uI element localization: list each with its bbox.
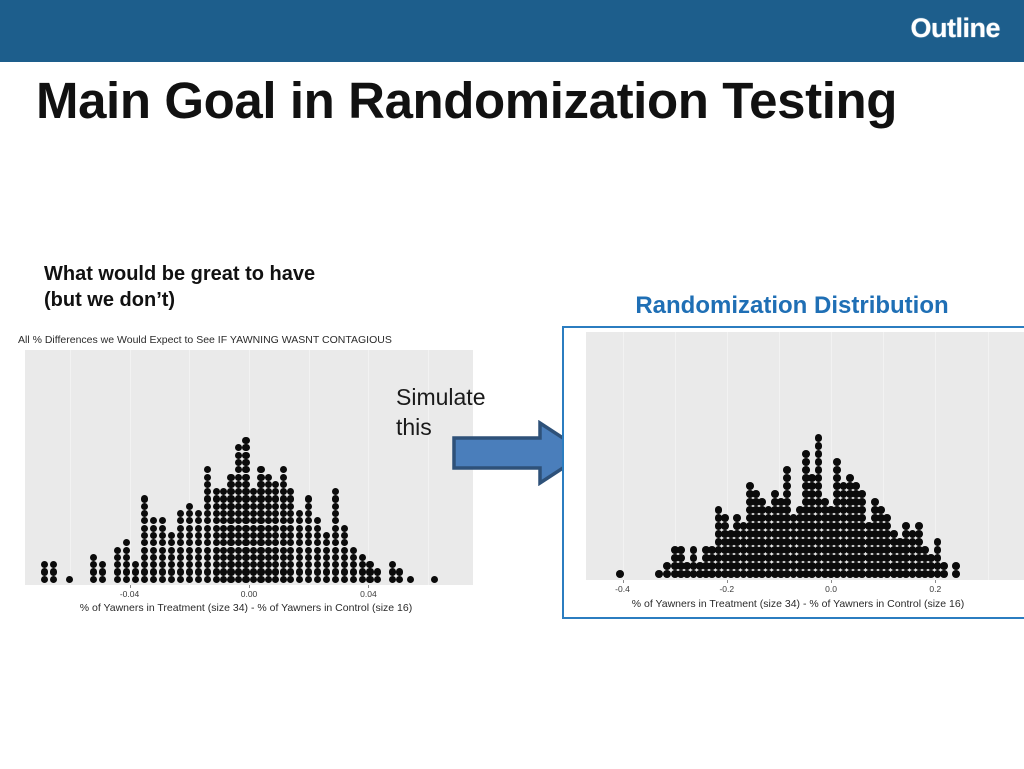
data-dot <box>323 568 330 575</box>
data-dot <box>250 576 257 583</box>
data-dot <box>915 530 923 538</box>
data-dot <box>227 503 234 510</box>
data-dot <box>150 532 157 539</box>
data-dot <box>177 547 184 554</box>
axis-tick-label: 0.04 <box>360 589 377 599</box>
data-dot <box>235 539 242 546</box>
data-dot <box>220 510 227 517</box>
data-dot <box>815 450 823 458</box>
data-dot <box>921 546 929 554</box>
data-dot <box>227 532 234 539</box>
page-title: Main Goal in Randomization Testing <box>36 72 936 130</box>
data-dot <box>350 568 357 575</box>
data-dot <box>177 568 184 575</box>
data-dot <box>690 546 698 554</box>
axis-tick-label: 0.0 <box>825 584 837 594</box>
data-dot <box>257 474 264 481</box>
data-dot <box>235 554 242 561</box>
data-dot <box>265 539 272 546</box>
data-dot <box>195 547 202 554</box>
data-dot <box>227 568 234 575</box>
data-dot <box>227 561 234 568</box>
data-dot <box>280 503 287 510</box>
data-dot <box>314 554 321 561</box>
data-dot <box>305 503 312 510</box>
data-dot <box>332 568 339 575</box>
data-dot <box>213 576 220 583</box>
data-dot <box>314 561 321 568</box>
data-dot <box>272 488 279 495</box>
data-dot <box>332 547 339 554</box>
data-dot <box>783 498 791 506</box>
outline-link[interactable]: Outline <box>911 13 1001 44</box>
data-dot <box>186 539 193 546</box>
data-dot <box>833 474 841 482</box>
data-dot <box>305 568 312 575</box>
data-dot <box>186 532 193 539</box>
data-dot <box>287 532 294 539</box>
data-dot <box>99 576 106 583</box>
data-dot <box>220 554 227 561</box>
axis-tick <box>935 580 936 583</box>
data-dot <box>250 539 257 546</box>
data-dot <box>815 474 823 482</box>
data-dot <box>341 561 348 568</box>
data-dot <box>235 459 242 466</box>
data-dot <box>257 532 264 539</box>
data-dot <box>114 547 121 554</box>
data-dot <box>280 517 287 524</box>
data-dot <box>341 539 348 546</box>
data-dot <box>227 525 234 532</box>
axis-tick-label: -0.4 <box>615 584 630 594</box>
data-dot <box>272 517 279 524</box>
data-dot <box>940 562 948 570</box>
data-dot <box>186 525 193 532</box>
data-dot <box>265 517 272 524</box>
data-dot <box>272 561 279 568</box>
top-banner: Outline <box>0 0 1024 62</box>
data-dot <box>41 561 48 568</box>
data-dot <box>159 532 166 539</box>
data-dot <box>663 570 671 578</box>
data-dot <box>677 554 685 562</box>
data-dot <box>257 568 264 575</box>
data-dot <box>141 539 148 546</box>
data-dot <box>242 561 249 568</box>
data-dot <box>213 503 220 510</box>
data-dot <box>272 576 279 583</box>
data-dot <box>257 481 264 488</box>
data-dot <box>314 568 321 575</box>
data-dot <box>431 576 438 583</box>
data-dot <box>305 561 312 568</box>
gridline-minor <box>623 332 624 580</box>
plot-area-right <box>586 332 1024 580</box>
data-dot <box>220 547 227 554</box>
data-dot <box>934 538 942 546</box>
x-axis-label-right: % of Yawners in Treatment (size 34) - % … <box>572 598 1024 610</box>
data-dot <box>257 466 264 473</box>
data-dot <box>314 525 321 532</box>
data-dot <box>235 503 242 510</box>
data-dot <box>815 442 823 450</box>
data-dot <box>50 568 57 575</box>
data-dot <box>396 568 403 575</box>
data-dot <box>177 576 184 583</box>
data-dot <box>250 510 257 517</box>
data-dot <box>141 525 148 532</box>
data-dot <box>280 510 287 517</box>
data-dot <box>305 495 312 502</box>
data-dot <box>250 568 257 575</box>
data-dot <box>150 576 157 583</box>
data-dot <box>204 547 211 554</box>
data-dot <box>186 547 193 554</box>
data-dot <box>341 525 348 532</box>
data-dot <box>287 576 294 583</box>
data-dot <box>815 482 823 490</box>
data-dot <box>783 474 791 482</box>
data-dot <box>195 539 202 546</box>
data-dot <box>883 514 891 522</box>
axis-tick-label: -0.2 <box>719 584 734 594</box>
data-dot <box>213 532 220 539</box>
data-dot <box>235 561 242 568</box>
data-dot <box>141 554 148 561</box>
data-dot <box>341 568 348 575</box>
data-dot <box>655 570 663 578</box>
data-dot <box>396 576 403 583</box>
data-dot <box>833 466 841 474</box>
data-dot <box>883 522 891 530</box>
data-dot <box>265 503 272 510</box>
data-dot <box>721 514 729 522</box>
data-dot <box>227 474 234 481</box>
data-dot <box>287 517 294 524</box>
data-dot <box>314 517 321 524</box>
data-dot <box>150 547 157 554</box>
data-dot <box>332 539 339 546</box>
data-dot <box>305 547 312 554</box>
data-dot <box>359 568 366 575</box>
data-dot <box>242 525 249 532</box>
data-dot <box>272 539 279 546</box>
data-dot <box>758 498 766 506</box>
data-dot <box>332 532 339 539</box>
data-dot <box>168 554 175 561</box>
data-dot <box>802 450 810 458</box>
data-dot <box>257 495 264 502</box>
data-dot <box>265 510 272 517</box>
data-dot <box>242 466 249 473</box>
data-dot <box>366 576 373 583</box>
data-dot <box>272 554 279 561</box>
data-dot <box>332 561 339 568</box>
data-dot <box>265 495 272 502</box>
axis-tick <box>623 580 624 583</box>
data-dot <box>99 568 106 575</box>
axis-tick-label: 0.00 <box>241 589 258 599</box>
data-dot <box>159 517 166 524</box>
data-dot <box>265 568 272 575</box>
data-dot <box>235 466 242 473</box>
data-dot <box>250 547 257 554</box>
data-dot <box>858 506 866 514</box>
data-dot <box>159 568 166 575</box>
chart-title-left: All % Differences we Would Expect to See… <box>18 334 392 346</box>
data-dot <box>314 547 321 554</box>
data-dot <box>204 510 211 517</box>
data-dot <box>934 546 942 554</box>
data-dot <box>220 576 227 583</box>
data-dot <box>242 539 249 546</box>
data-dot <box>41 576 48 583</box>
data-dot <box>305 576 312 583</box>
data-dot <box>227 495 234 502</box>
data-dot <box>265 481 272 488</box>
data-dot <box>220 495 227 502</box>
data-dot <box>41 568 48 575</box>
data-dot <box>250 488 257 495</box>
data-dot <box>802 466 810 474</box>
data-dot <box>677 546 685 554</box>
data-dot <box>341 554 348 561</box>
data-dot <box>359 554 366 561</box>
data-dot <box>220 488 227 495</box>
data-dot <box>287 568 294 575</box>
data-dot <box>242 437 249 444</box>
data-dot <box>114 554 121 561</box>
axis-tick <box>831 580 832 583</box>
data-dot <box>296 561 303 568</box>
data-dot <box>350 554 357 561</box>
data-dot <box>220 503 227 510</box>
data-dot <box>314 532 321 539</box>
data-dot <box>132 561 139 568</box>
data-dot <box>815 466 823 474</box>
data-dot <box>242 459 249 466</box>
data-dot <box>265 474 272 481</box>
data-dot <box>227 539 234 546</box>
data-dot <box>141 532 148 539</box>
axis-tick <box>249 585 250 588</box>
data-dot <box>204 539 211 546</box>
data-dot <box>195 561 202 568</box>
data-dot <box>90 568 97 575</box>
data-dot <box>195 510 202 517</box>
data-dot <box>90 576 97 583</box>
data-dot <box>242 474 249 481</box>
data-dot <box>280 576 287 583</box>
data-dot <box>852 482 860 490</box>
data-dot <box>296 568 303 575</box>
data-dot <box>858 490 866 498</box>
data-dot <box>204 576 211 583</box>
data-dot <box>159 539 166 546</box>
data-dot <box>305 539 312 546</box>
data-dot <box>332 517 339 524</box>
data-dot <box>227 554 234 561</box>
data-dot <box>242 576 249 583</box>
data-dot <box>227 576 234 583</box>
data-dot <box>663 562 671 570</box>
data-dot <box>242 488 249 495</box>
data-dot <box>204 503 211 510</box>
data-dot <box>265 547 272 554</box>
data-dot <box>150 554 157 561</box>
axis-tick <box>368 585 369 588</box>
data-dot <box>186 554 193 561</box>
data-dot <box>159 554 166 561</box>
data-dot <box>280 568 287 575</box>
data-dot <box>287 525 294 532</box>
data-dot <box>265 525 272 532</box>
data-dot <box>366 561 373 568</box>
data-dot <box>159 547 166 554</box>
data-dot <box>235 532 242 539</box>
data-dot <box>227 547 234 554</box>
data-dot <box>213 495 220 502</box>
data-dot <box>177 554 184 561</box>
data-dot <box>235 568 242 575</box>
data-dot <box>235 576 242 583</box>
data-dot <box>195 568 202 575</box>
data-dot <box>783 490 791 498</box>
data-dot <box>314 576 321 583</box>
data-dot <box>50 576 57 583</box>
data-dot <box>242 554 249 561</box>
data-dot <box>350 561 357 568</box>
data-dot <box>257 503 264 510</box>
data-dot <box>746 482 754 490</box>
data-dot <box>213 561 220 568</box>
data-dot <box>280 554 287 561</box>
data-dot <box>771 490 779 498</box>
data-dot <box>204 525 211 532</box>
data-dot <box>280 495 287 502</box>
data-dot <box>305 532 312 539</box>
data-dot <box>235 474 242 481</box>
x-axis-right: -0.4-0.20.00.2 <box>586 580 1024 596</box>
data-dot <box>296 532 303 539</box>
data-dot <box>934 554 942 562</box>
data-dot <box>257 488 264 495</box>
data-dot <box>66 576 73 583</box>
data-dot <box>186 561 193 568</box>
data-dot <box>280 547 287 554</box>
data-dot <box>235 510 242 517</box>
data-dot <box>204 568 211 575</box>
data-dot <box>272 481 279 488</box>
data-dot <box>915 522 923 530</box>
data-dot <box>323 547 330 554</box>
data-dot <box>141 568 148 575</box>
axis-tick <box>727 580 728 583</box>
data-dot <box>204 474 211 481</box>
data-dot <box>305 525 312 532</box>
data-dot <box>227 510 234 517</box>
data-dot <box>141 495 148 502</box>
data-dot <box>257 517 264 524</box>
data-dot <box>168 561 175 568</box>
data-dot <box>242 547 249 554</box>
data-dot <box>783 466 791 474</box>
data-dot <box>821 498 829 506</box>
data-dot <box>213 568 220 575</box>
data-dot <box>141 561 148 568</box>
data-dot <box>287 510 294 517</box>
data-dot <box>350 576 357 583</box>
data-dot <box>858 498 866 506</box>
axis-tick-label: 0.2 <box>929 584 941 594</box>
data-dot <box>132 568 139 575</box>
data-dot <box>250 517 257 524</box>
data-dot <box>150 561 157 568</box>
data-dot <box>159 525 166 532</box>
data-dot <box>220 532 227 539</box>
data-dot <box>287 488 294 495</box>
data-dot <box>314 539 321 546</box>
data-dot <box>265 532 272 539</box>
data-dot <box>280 539 287 546</box>
data-dot <box>150 539 157 546</box>
data-dot <box>204 481 211 488</box>
axis-tick <box>130 585 131 588</box>
data-dot <box>220 568 227 575</box>
data-dot <box>323 539 330 546</box>
data-dot <box>235 517 242 524</box>
data-dot <box>204 466 211 473</box>
data-dot <box>265 561 272 568</box>
data-dot <box>915 538 923 546</box>
data-dot <box>332 488 339 495</box>
data-dot <box>220 517 227 524</box>
axis-tick-label: -0.04 <box>120 589 139 599</box>
data-dot <box>250 532 257 539</box>
data-dot <box>877 506 885 514</box>
data-dot <box>846 474 854 482</box>
data-dot <box>220 525 227 532</box>
data-dot <box>280 474 287 481</box>
data-dot <box>204 554 211 561</box>
data-dot <box>123 568 130 575</box>
data-dot <box>168 576 175 583</box>
data-dot <box>323 576 330 583</box>
data-dot <box>296 554 303 561</box>
data-dot <box>272 525 279 532</box>
data-dot <box>114 576 121 583</box>
data-dot <box>833 458 841 466</box>
x-axis-label-left: % of Yawners in Treatment (size 34) - % … <box>16 602 476 614</box>
data-dot <box>204 517 211 524</box>
data-dot <box>235 444 242 451</box>
data-dot <box>715 506 723 514</box>
data-dot <box>287 561 294 568</box>
data-dot <box>690 554 698 562</box>
data-dot <box>195 554 202 561</box>
data-dot <box>235 525 242 532</box>
data-dot <box>257 539 264 546</box>
data-dot <box>815 490 823 498</box>
data-dot <box>407 576 414 583</box>
data-dot <box>242 481 249 488</box>
data-dot <box>272 495 279 502</box>
data-dot <box>902 522 910 530</box>
data-dot <box>272 532 279 539</box>
data-dot <box>296 576 303 583</box>
data-dot <box>296 525 303 532</box>
